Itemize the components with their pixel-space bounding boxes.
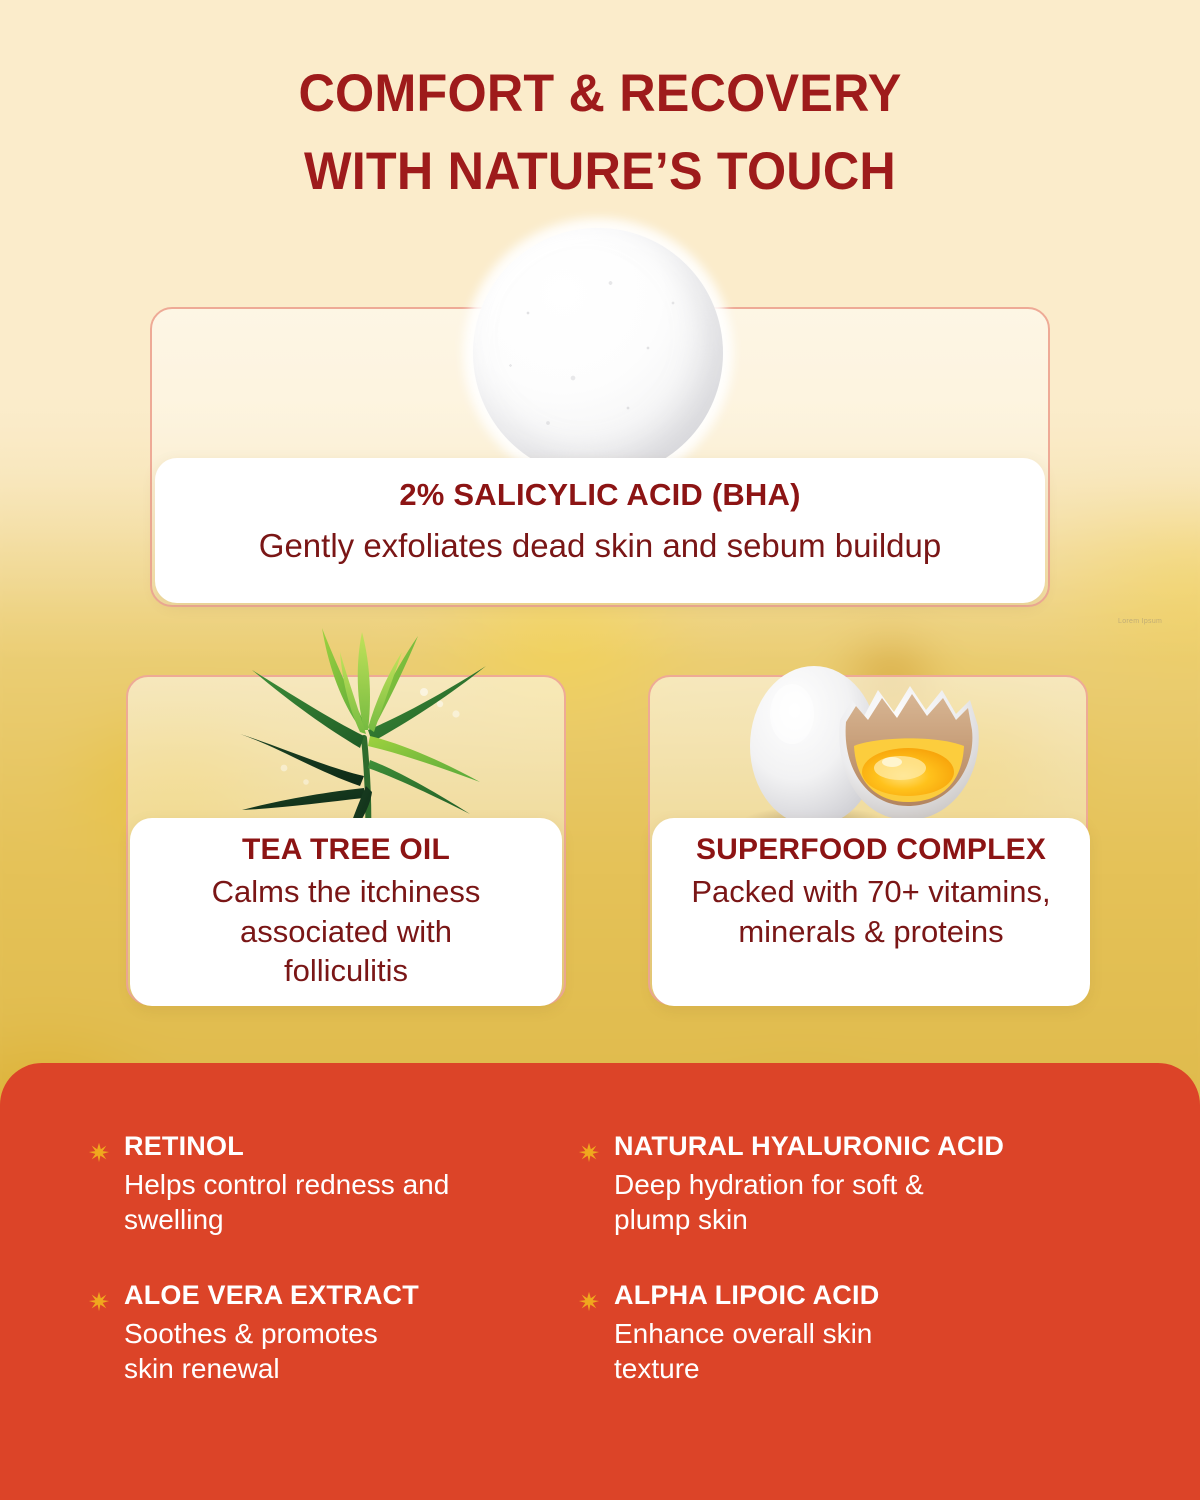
list-item-body: ALPHA LIPOIC ACID Enhance overall skin t… xyxy=(614,1280,879,1387)
benefits-panel: RETINOL Helps control redness and swelli… xyxy=(0,1063,1200,1500)
benefit-description: Deep hydration for soft & plump skin xyxy=(614,1167,1004,1238)
benefit-description: Enhance overall skin texture xyxy=(614,1316,879,1387)
benefit-title: NATURAL HYALURONIC ACID xyxy=(614,1131,1004,1163)
gold-leaf-icon xyxy=(578,1141,600,1163)
infographic-page: COMFORT & RECOVERY WITH NATURE’S TOUCH L… xyxy=(0,0,1200,1500)
gold-leaf-icon xyxy=(88,1141,110,1163)
benefit-description: Soothes & promotes skin renewal xyxy=(124,1316,419,1387)
ingredient-card-tea-tree-oil: TEA TREE OIL Calms the itchiness associa… xyxy=(130,818,562,1006)
card-title: 2% SALICYLIC ACID (BHA) xyxy=(179,476,1021,514)
card-title: SUPERFOOD COMPLEX xyxy=(662,832,1080,868)
page-title: COMFORT & RECOVERY WITH NATURE’S TOUCH xyxy=(30,55,1170,211)
white-powder-mound-image xyxy=(473,228,723,478)
benefit-title: ALPHA LIPOIC ACID xyxy=(614,1280,879,1312)
card-title: TEA TREE OIL xyxy=(146,832,546,868)
list-item: ALPHA LIPOIC ACID Enhance overall skin t… xyxy=(578,1280,1158,1387)
lorem-ipsum-watermark: Lorem Ipsum xyxy=(1118,618,1162,625)
list-item-body: ALOE VERA EXTRACT Soothes & promotes ski… xyxy=(124,1280,419,1387)
gold-leaf-icon xyxy=(88,1290,110,1312)
gold-leaf-icon xyxy=(578,1290,600,1312)
list-item: RETINOL Helps control redness and swelli… xyxy=(88,1131,578,1238)
tea-tree-sprig-image xyxy=(218,618,518,848)
list-item: NATURAL HYALURONIC ACID Deep hydration f… xyxy=(578,1131,1158,1238)
ingredient-card-salicylic-acid: 2% SALICYLIC ACID (BHA) Gently exfoliate… xyxy=(155,458,1045,603)
benefit-title: RETINOL xyxy=(124,1131,449,1163)
card-description: Packed with 70+ vitamins, minerals & pro… xyxy=(662,872,1080,951)
card-description: Calms the itchiness associated with foll… xyxy=(146,872,546,991)
benefit-description: Helps control redness and swelling xyxy=(124,1167,449,1238)
ingredient-card-superfood-complex: SUPERFOOD COMPLEX Packed with 70+ vitami… xyxy=(652,818,1090,1006)
list-item: ALOE VERA EXTRACT Soothes & promotes ski… xyxy=(88,1280,578,1387)
list-item-body: NATURAL HYALURONIC ACID Deep hydration f… xyxy=(614,1131,1004,1238)
benefits-list: RETINOL Helps control redness and swelli… xyxy=(88,1131,1158,1387)
card-description: Gently exfoliates dead skin and sebum bu… xyxy=(179,526,1021,567)
list-item-body: RETINOL Helps control redness and swelli… xyxy=(124,1131,449,1238)
benefit-title: ALOE VERA EXTRACT xyxy=(124,1280,419,1312)
